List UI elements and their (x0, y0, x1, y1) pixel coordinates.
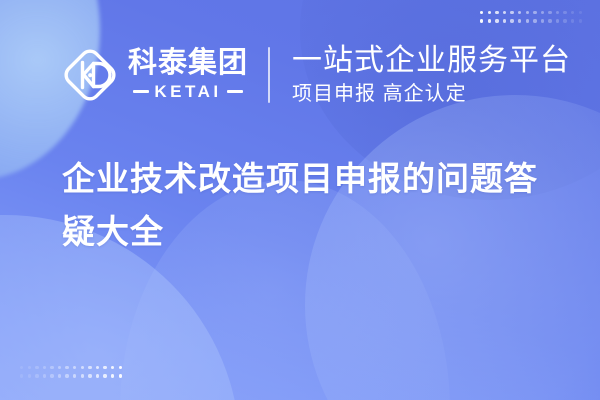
dot (503, 19, 506, 22)
dot (43, 374, 46, 377)
ketai-diamond-monogram-icon (60, 45, 120, 105)
dot (50, 366, 53, 369)
dot-grid-top-right (480, 11, 582, 23)
dot (35, 366, 38, 369)
tagline-main: 一站式企业服务平台 (292, 44, 571, 78)
dot-row (480, 11, 582, 14)
brand-name-en-row: KETAI (133, 83, 242, 100)
dot (103, 366, 106, 369)
dot (533, 11, 536, 14)
dot (119, 374, 122, 377)
dot (20, 374, 23, 377)
tagline-block: 一站式企业服务平台 项目申报 高企认定 (292, 44, 571, 106)
dot (503, 11, 506, 14)
dot (495, 11, 498, 14)
dot (50, 374, 53, 377)
dot (111, 374, 114, 377)
dot (579, 19, 582, 22)
dot (58, 366, 61, 369)
dot (571, 19, 574, 22)
dot (541, 19, 544, 22)
dot (96, 366, 99, 369)
dot (28, 366, 31, 369)
dot (495, 19, 498, 22)
dot (541, 11, 544, 14)
dot (103, 374, 106, 377)
dot (579, 11, 582, 14)
dot-row (20, 366, 122, 369)
dot (35, 374, 38, 377)
wordmark-dash-left-icon (133, 90, 149, 93)
dot (28, 374, 31, 377)
brand-name-cn: 科泰集团 (128, 49, 248, 78)
header-divider (268, 47, 270, 103)
dot (65, 366, 68, 369)
dot (20, 366, 23, 369)
dot (510, 11, 513, 14)
dot (526, 11, 529, 14)
dot (518, 11, 521, 14)
promo-banner: 科泰集团 KETAI 一站式企业服务平台 项目申报 高企认定 企业技术改造项目申… (0, 0, 600, 400)
brand-logo-lockup: 科泰集团 KETAI (60, 45, 248, 105)
brand-wordmark: 科泰集团 KETAI (128, 49, 248, 100)
dot (556, 11, 559, 14)
dot (88, 366, 91, 369)
dot (518, 19, 521, 22)
dot (480, 11, 483, 14)
dot (119, 366, 122, 369)
dot (96, 374, 99, 377)
tagline-sub: 项目申报 高企认定 (292, 82, 571, 106)
dot (88, 374, 91, 377)
page-title: 企业技术改造项目申报的问题答疑大全 (62, 152, 554, 259)
dot (65, 374, 68, 377)
dot (548, 11, 551, 14)
dot-row (20, 374, 122, 377)
dot (488, 19, 491, 22)
brand-name-en: KETAI (154, 83, 221, 100)
dot (81, 366, 84, 369)
wordmark-dash-right-icon (227, 90, 243, 93)
dot (526, 19, 529, 22)
dot (111, 366, 114, 369)
dot (563, 11, 566, 14)
dot (480, 19, 483, 22)
dot (548, 19, 551, 22)
dot (563, 19, 566, 22)
dot (510, 19, 513, 22)
dot-row (480, 19, 582, 22)
dot (43, 366, 46, 369)
dot (533, 19, 536, 22)
brand-header: 科泰集团 KETAI 一站式企业服务平台 项目申报 高企认定 (60, 44, 571, 106)
dot-grid-bottom-left (20, 366, 122, 378)
dot (58, 374, 61, 377)
dot (73, 366, 76, 369)
dot (571, 11, 574, 14)
dot (81, 374, 84, 377)
dot (73, 374, 76, 377)
dot (488, 11, 491, 14)
dot (556, 19, 559, 22)
